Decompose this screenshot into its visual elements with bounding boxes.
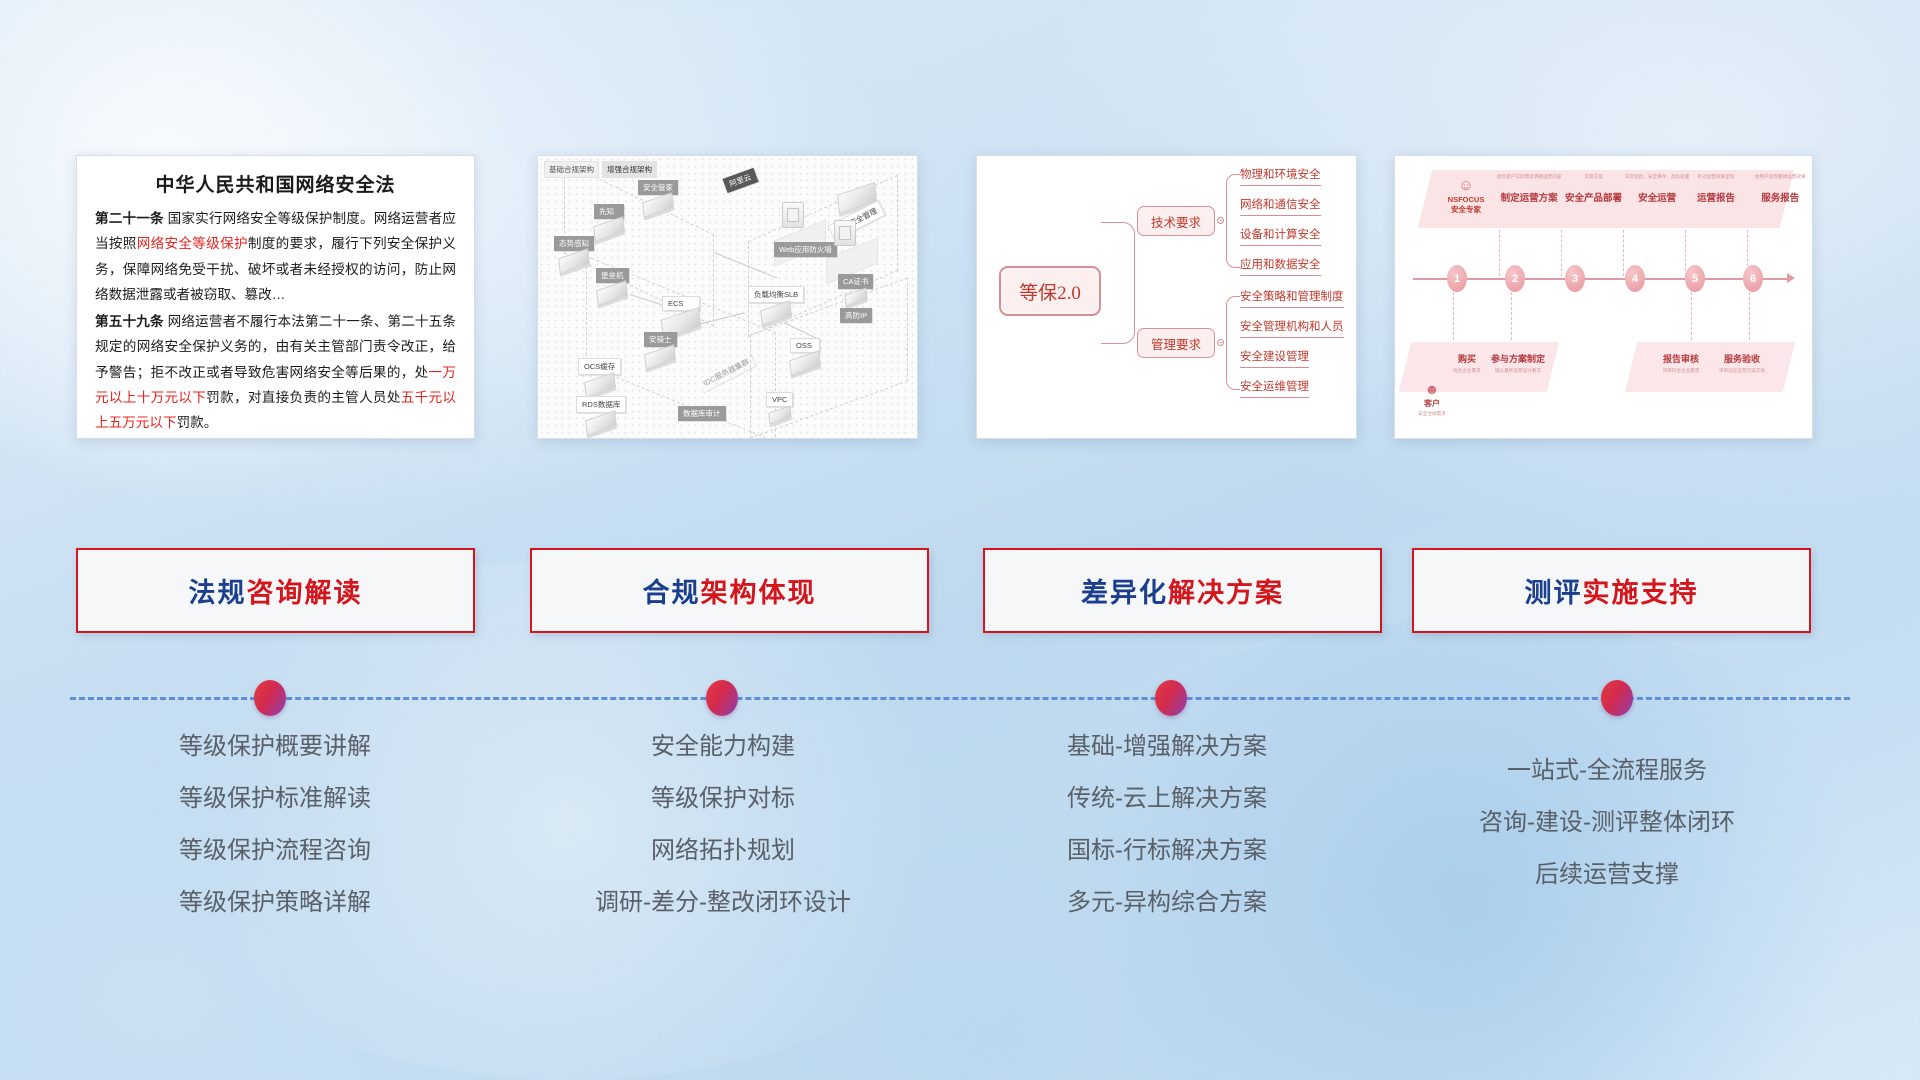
customer-label: 客户 — [1409, 398, 1455, 409]
list-item: 等级保护对标 — [508, 787, 938, 811]
column-differentiated-solution: 基础-增强解决方案 传统-云上解决方案 国标-行标解决方案 多元-异构综合方案 — [952, 735, 1382, 943]
node-security-butler: 安全管家 — [638, 180, 678, 213]
server-icon — [834, 220, 856, 246]
title-1-red: 咨询解读 — [247, 578, 363, 608]
tab-basic-architecture[interactable]: 基础合规架构 — [544, 161, 599, 178]
top-step-3-main: 运营报告 — [1697, 190, 1735, 204]
list-item: 等级保护概要讲解 — [60, 735, 490, 759]
node-anqishi: 安骑士 — [644, 332, 677, 365]
list-item: 等级保护标准解读 — [60, 787, 490, 811]
connector-dashed — [1453, 292, 1454, 340]
top-step-3: 针对运营效果呈现 运营报告 — [1697, 174, 1735, 204]
node-label: OCS缓存 — [578, 358, 621, 375]
node-idc-server-cluster: IDC服务器集群 — [696, 362, 756, 380]
title-3-blue: 差异化 — [1081, 578, 1168, 608]
bottom-step-1: 参与方案制定 确认最终运营设计要求 — [1485, 352, 1551, 374]
timeline-marker-2[interactable] — [706, 680, 738, 716]
architecture-tabs: 基础合规架构 增强合规架构 — [544, 161, 657, 178]
node-label: 高防IP — [840, 308, 872, 323]
top-step-2: 日常巡检、安全事件、高危处置 安全运营 — [1625, 174, 1689, 204]
customer-person-icon: ☻ — [1409, 382, 1455, 396]
top-step-0: 结合客户实际需求明确运营内容 制定运营方案 — [1497, 174, 1561, 204]
title-2-blue: 合规 — [643, 578, 701, 608]
timeline-node-5[interactable]: 5 — [1685, 265, 1705, 292]
node-vpc: VPC — [766, 392, 793, 421]
top-step-1-sub: 实施方案 — [1565, 174, 1622, 180]
title-box-4-text: 测评实施支持 — [1525, 571, 1699, 610]
timeline-node-4[interactable]: 4 — [1625, 265, 1645, 292]
top-step-2-sub: 日常巡检、安全事件、高危处置 — [1625, 174, 1689, 180]
connector-dashed — [1685, 230, 1686, 276]
title-box-evaluation-support[interactable]: 测评实施支持 — [1412, 548, 1811, 633]
node-label: RDS数据库 — [576, 396, 626, 413]
top-step-4: 给用户呈现整体运营效果 服务报告 — [1755, 174, 1806, 204]
timeline-marker-4[interactable] — [1601, 680, 1633, 716]
server-icon-group-a — [782, 200, 804, 228]
list-item: 后续运营支撑 — [1392, 863, 1822, 887]
node-situational-awareness: 态势感知 — [554, 236, 594, 269]
column-compliance-architecture: 安全能力构建 等级保护对标 网络拓扑规划 调研-差分-整改闭环设计 — [508, 735, 938, 943]
top-step-2-main: 安全运营 — [1625, 190, 1689, 204]
nsfocus-expert: ☺ NSFOCUS 安全专家 — [1437, 178, 1495, 215]
node-label: 负载均衡SLB — [748, 286, 804, 303]
node-label: Web应用防火墙 — [774, 242, 837, 257]
top-step-1-main: 安全产品部署 — [1565, 190, 1622, 204]
node-ocs-cache: OCS缓存 — [578, 358, 621, 393]
list-item: 基础-增强解决方案 — [952, 735, 1382, 759]
server-icon-group-b — [834, 218, 856, 246]
top-step-0-main: 制定运营方案 — [1497, 190, 1561, 204]
connector-dashed — [1561, 230, 1562, 276]
list-item: 国标-行标解决方案 — [952, 839, 1382, 863]
column-evaluation-support: 一站式-全流程服务 咨询-建设-测评整体闭环 后续运营支撑 — [1392, 735, 1822, 915]
top-step-4-main: 服务报告 — [1755, 190, 1806, 204]
list-item: 安全能力构建 — [508, 735, 938, 759]
bottom-step-0: 购买 符合企业需求 — [1447, 352, 1487, 374]
node-ecs: ECS — [662, 296, 700, 333]
title-box-compliance-architecture[interactable]: 合规架构体现 — [530, 548, 929, 633]
list-item: 一站式-全流程服务 — [1392, 759, 1822, 783]
timeline-top-band-content: ☺ NSFOCUS 安全专家 结合客户实际需求明确运营内容 制定运营方案 实施方… — [1425, 170, 1787, 228]
title-2-red: 架构体现 — [701, 578, 817, 608]
node-web-app-firewall: Web应用防火墙 — [774, 242, 837, 257]
timeline-node-1[interactable]: 1 — [1447, 265, 1467, 292]
tab-enhanced-architecture[interactable]: 增强合规架构 — [602, 161, 657, 178]
timeline-dashed-line — [70, 697, 1850, 700]
list-item: 咨询-建设-测评整体闭环 — [1392, 811, 1822, 835]
node-anti-ddos-ip: 高防IP — [840, 308, 872, 323]
bottom-step-3-main: 服务验收 — [1711, 352, 1773, 365]
top-step-4-sub: 给用户呈现整体运营效果 — [1755, 174, 1806, 180]
list-item: 网络拓扑规划 — [508, 839, 938, 863]
node-xianzhi: 先知 — [594, 204, 624, 237]
list-item: 多元-异构综合方案 — [952, 891, 1382, 915]
timeline-node-3[interactable]: 3 — [1565, 265, 1585, 292]
title-4-blue: 测评 — [1525, 578, 1583, 608]
top-step-1: 实施方案 安全产品部署 — [1565, 174, 1622, 204]
top-step-3-sub: 针对运营效果呈现 — [1697, 174, 1735, 180]
bottom-step-1-main: 参与方案制定 — [1485, 352, 1551, 365]
expert-line1: NSFOCUS — [1437, 195, 1495, 204]
timeline-node-6[interactable]: 6 — [1743, 265, 1763, 292]
node-label: 数据库审计 — [678, 406, 726, 421]
list-item: 传统-云上解决方案 — [952, 787, 1382, 811]
node-rds-database: RDS数据库 — [576, 396, 626, 431]
node-bastion-host: 堡垒机 — [596, 268, 629, 301]
bottom-step-0-main: 购买 — [1447, 352, 1487, 365]
connector-dashed — [1499, 230, 1500, 276]
list-item: 等级保护流程咨询 — [60, 839, 490, 863]
column-regulation-consulting: 等级保护概要讲解 等级保护标准解读 等级保护流程咨询 等级保护策略详解 — [60, 735, 490, 943]
title-box-1-text: 法规咨询解读 — [189, 571, 363, 610]
node-aliyun: 阿里云 — [724, 170, 757, 188]
bottom-step-0-sub: 符合企业需求 — [1447, 368, 1487, 374]
connector-dashed — [1623, 230, 1624, 276]
list-item: 等级保护策略详解 — [60, 891, 490, 915]
title-box-differentiated-solution[interactable]: 差异化解决方案 — [983, 548, 1382, 633]
title-box-3-text: 差异化解决方案 — [1081, 571, 1284, 610]
timeline-marker-3[interactable] — [1155, 680, 1187, 716]
title-box-regulation-consulting[interactable]: 法规咨询解读 — [76, 548, 475, 633]
server-icon — [782, 202, 804, 228]
expert-person-icon: ☺ — [1437, 178, 1495, 193]
title-1-blue: 法规 — [189, 578, 247, 608]
title-3-red: 解决方案 — [1168, 578, 1284, 608]
timeline-axis — [1413, 278, 1789, 280]
list-item: 调研-差分-整改闭环设计 — [508, 891, 938, 915]
connector-dashed — [1749, 292, 1750, 340]
node-database-audit: 数据库审计 — [678, 406, 726, 421]
node-ca-certificate: CA证书 — [838, 274, 873, 303]
expert-line2: 安全专家 — [1437, 204, 1495, 215]
node-label: CA证书 — [838, 274, 873, 289]
top-step-0-sub: 结合客户实际需求明确运营内容 — [1497, 174, 1561, 180]
timeline-arrow-icon — [1787, 273, 1795, 283]
bottom-step-2-sub: 评审符合企业需求 — [1651, 368, 1711, 374]
customer-block: ☻ 客户 安全合规需求 — [1409, 382, 1455, 417]
bottom-step-2-main: 报告审核 — [1651, 352, 1711, 365]
bottom-step-3: 服务验收 评审验证运营方案实效 — [1711, 352, 1773, 374]
bottom-step-2: 报告审核 评审符合企业需求 — [1651, 352, 1711, 374]
node-oss: OSS — [790, 338, 820, 371]
customer-sub: 安全合规需求 — [1409, 411, 1455, 417]
connector-dashed — [1691, 292, 1692, 340]
connector-dashed — [1511, 292, 1512, 340]
timeline-marker-1[interactable] — [254, 680, 286, 716]
title-4-red: 实施支持 — [1583, 578, 1699, 608]
node-slb: 负载均衡SLB — [748, 286, 804, 321]
timeline-node-2[interactable]: 2 — [1505, 265, 1525, 292]
bottom-step-1-sub: 确认最终运营设计要求 — [1485, 368, 1551, 374]
title-box-2-text: 合规架构体现 — [643, 571, 817, 610]
bottom-step-3-sub: 评审验证运营方案实效 — [1711, 368, 1773, 374]
